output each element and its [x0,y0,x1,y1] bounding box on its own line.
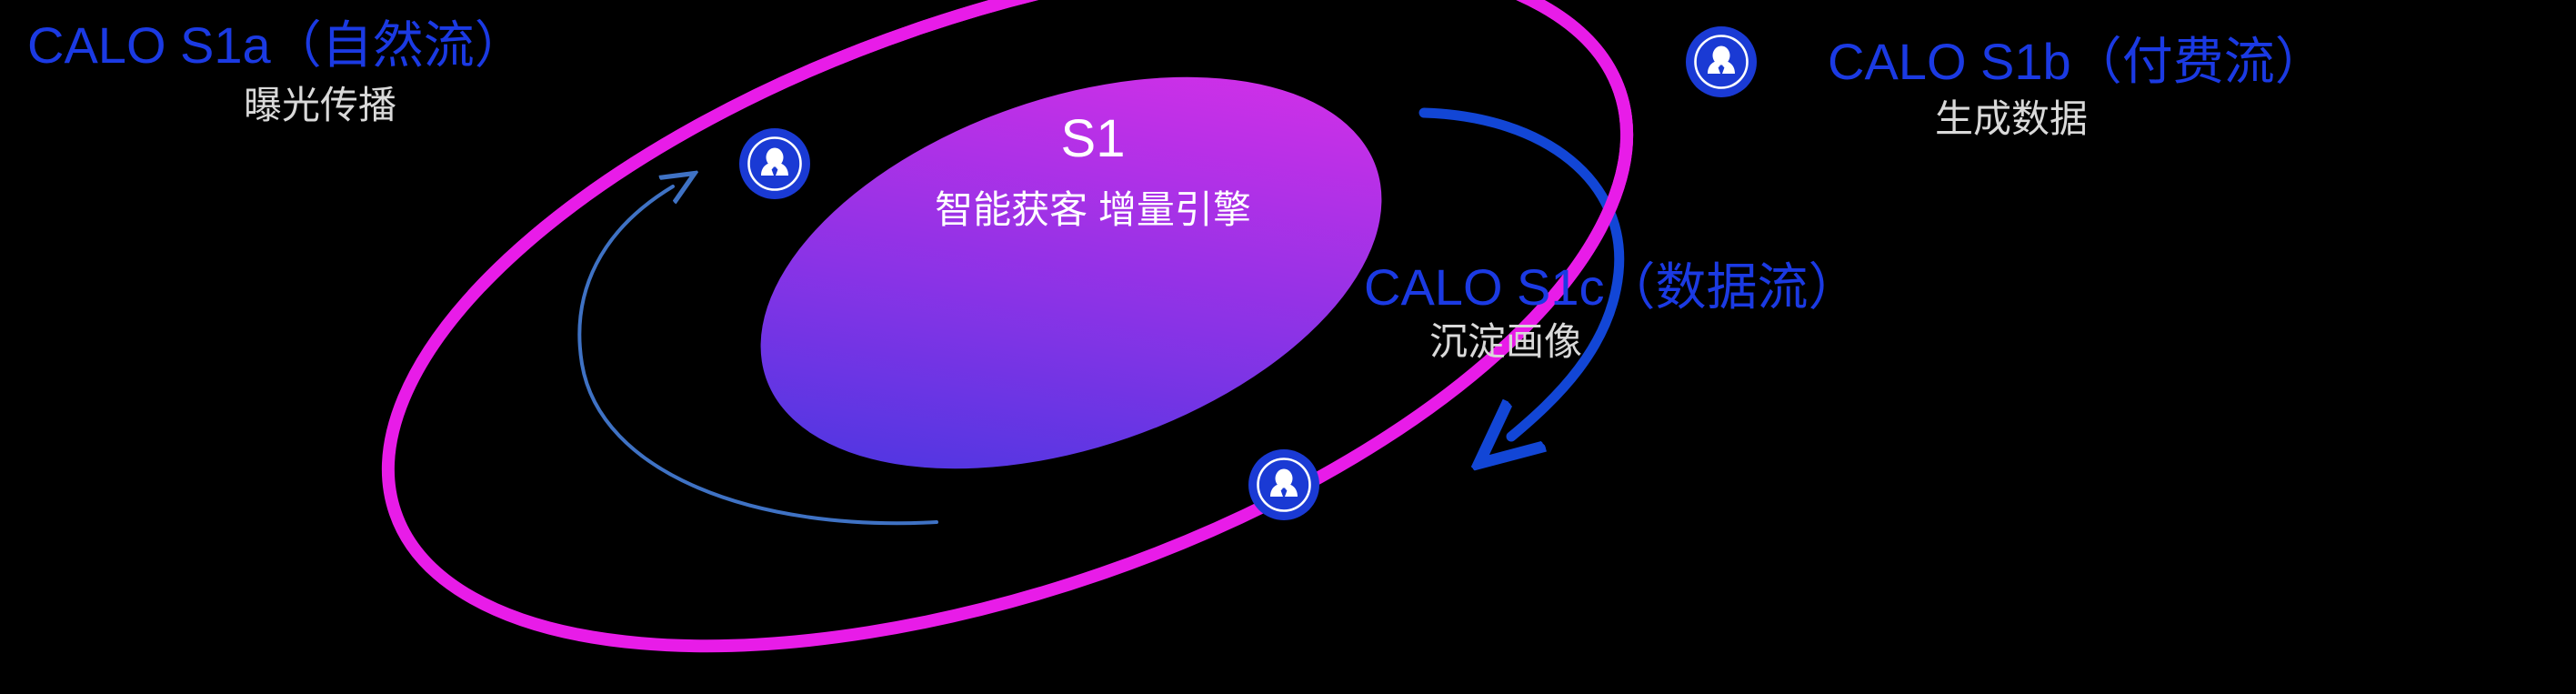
label-title-s1a: CALO S1a（自然流） [27,20,526,71]
core-title: S1 [1061,109,1126,168]
node-circle-s1b[interactable] [1686,26,1757,97]
label-caption-s1c: 沉淀画像 [1429,323,1582,361]
diagram-canvas: S1 智能获客 增量引擎 [0,0,2576,694]
core-ellipse [709,3,1433,543]
label-caption-s1b: 生成数据 [1935,100,2088,138]
label-title-s1b: CALO S1b（付费流） [1828,36,2326,87]
node-circle-s1c[interactable] [1248,449,1319,520]
label-caption-s1a: 曝光传播 [244,86,396,125]
label-title-s1c: CALO S1c（数据流） [1364,262,1859,313]
node-circle-s1a[interactable] [739,128,810,199]
core-subtitle: 智能获客 增量引擎 [935,188,1251,231]
